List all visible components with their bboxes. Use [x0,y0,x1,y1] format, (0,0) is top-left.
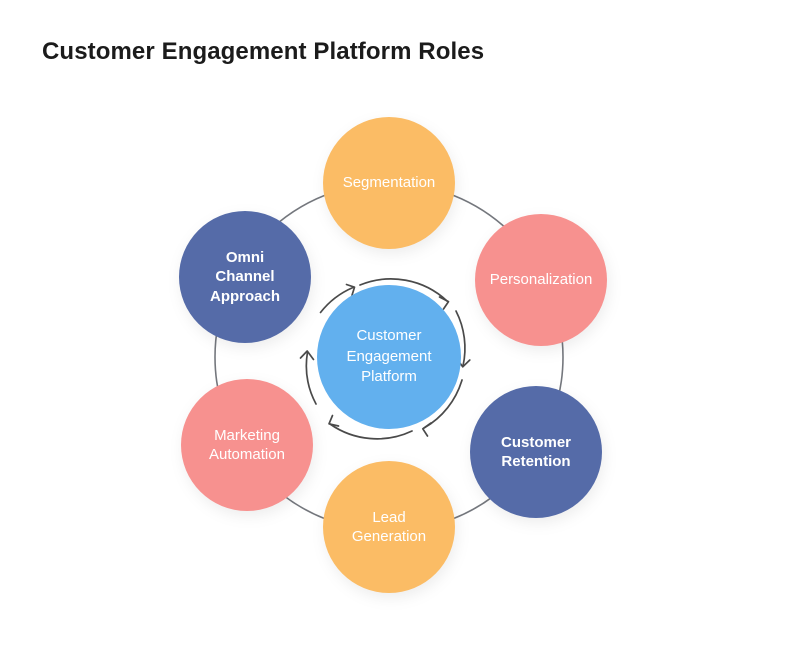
node-label: Personalization [484,270,599,290]
center-node-label: Customer Engagement Platform [340,326,437,388]
node-lead-generation[interactable]: Lead Generation [323,461,455,593]
node-center-customer-engagement-platform[interactable]: Customer Engagement Platform [317,285,461,429]
node-customer-retention[interactable]: Customer Retention [470,386,602,518]
node-label: Lead Generation [346,508,432,547]
node-omni-channel-approach[interactable]: Omni Channel Approach [179,211,311,343]
node-segmentation[interactable]: Segmentation [323,117,455,249]
node-marketing-automation[interactable]: Marketing Automation [181,379,313,511]
node-label: Omni Channel Approach [204,248,286,307]
node-label: Customer Retention [495,433,577,472]
slide-canvas: Customer Engagement Platform Roles [0,0,800,650]
node-label: Marketing Automation [203,426,291,465]
node-label: Segmentation [337,173,442,193]
node-personalization[interactable]: Personalization [475,214,607,346]
cycle-diagram: Segmentation Personalization Customer Re… [0,0,800,650]
